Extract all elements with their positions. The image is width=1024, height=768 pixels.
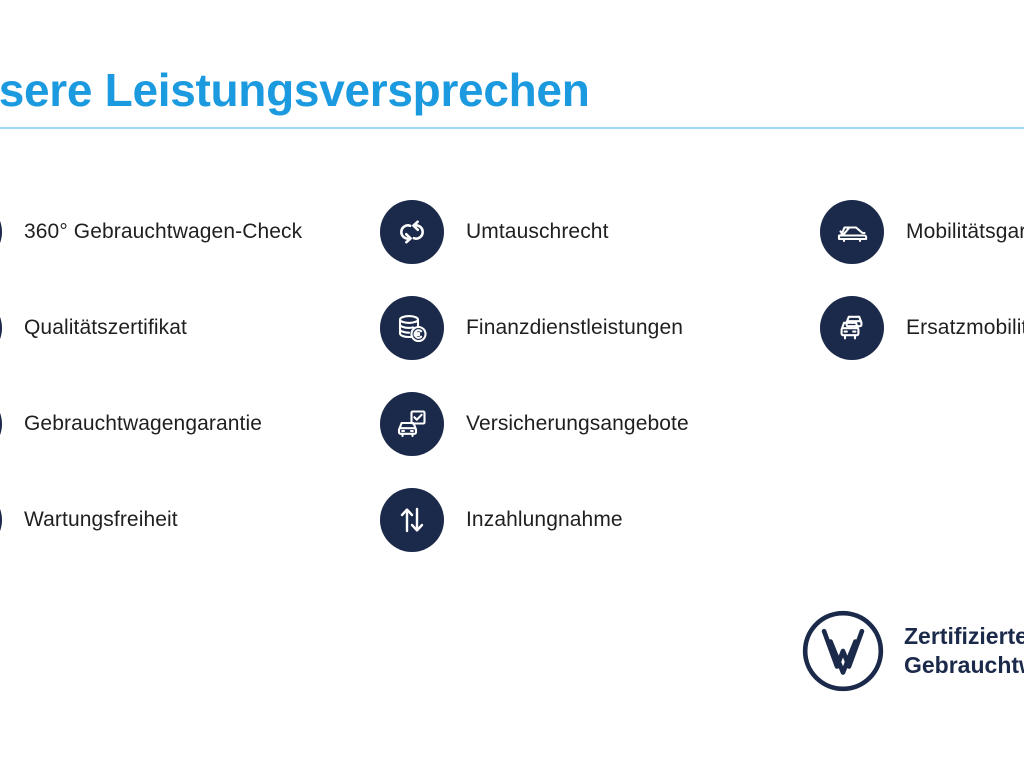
promise-label: Wartungsfreiheit — [24, 507, 178, 533]
promise-item[interactable]: Wartungsfreiheit — [0, 488, 380, 552]
promise-label: Versicherungsangebote — [466, 411, 689, 437]
slide-viewport: Unsere Leistungsversprechen 360° Gebrauc… — [0, 0, 1024, 768]
magnifier-car-check-icon — [0, 200, 2, 264]
promise-label: Qualitätszertifikat — [24, 315, 187, 341]
promise-label: Gebrauchtwagengarantie — [24, 411, 262, 437]
headline-block: Unsere Leistungsversprechen — [0, 62, 1024, 118]
up-down-arrows-icon — [380, 488, 444, 552]
promise-item[interactable]: Versicherungsangebote — [380, 392, 820, 456]
promise-label: Umtauschrecht — [466, 219, 609, 245]
promise-item[interactable]: Inzahlungnahme — [380, 488, 820, 552]
vw-certified-text: Zertifizierte Gebrauchtwagen — [904, 622, 1024, 680]
promise-item[interactable]: Gebrauchtwagengarantie — [0, 392, 380, 456]
slide-canvas: Unsere Leistungsversprechen 360° Gebrauc… — [0, 0, 1024, 768]
promises-column-1: 360° Gebrauchtwagen-Check Qualitätszerti… — [0, 200, 380, 552]
car-check-icon — [820, 200, 884, 264]
promise-label: 360° Gebrauchtwagen-Check — [24, 219, 302, 245]
shield-car-icon — [0, 392, 2, 456]
promise-item[interactable]: Qualitätszertifikat — [0, 296, 380, 360]
exchange-arrows-icon — [380, 200, 444, 264]
certificate-seal-icon — [0, 296, 2, 360]
promises-column-3: Mobilitätsgarantie — [820, 200, 1024, 552]
promise-item[interactable]: Mobilitätsgarantie — [820, 200, 1024, 264]
promise-item[interactable]: 360° Gebrauchtwagen-Check — [0, 200, 380, 264]
volkswagen-logo — [800, 608, 886, 694]
promise-item[interactable]: Ersatzmobilität — [820, 296, 1024, 360]
headline-divider — [0, 127, 1024, 129]
car-document-check-icon — [380, 392, 444, 456]
promises-column-2: Umtauschrecht — [380, 200, 820, 552]
vw-certified-line2: Gebrauchtwagen — [904, 652, 1024, 678]
promise-label: Inzahlungnahme — [466, 507, 623, 533]
promise-label: Finanzdienstleistungen — [466, 315, 683, 341]
vw-certified-line1: Zertifizierte — [904, 623, 1024, 649]
vw-certified-lockup: Zertifizierte Gebrauchtwagen — [800, 608, 1024, 694]
promises-grid: 360° Gebrauchtwagen-Check Qualitätszerti… — [0, 200, 1024, 552]
promise-label: Ersatzmobilität — [906, 315, 1024, 341]
two-cars-icon — [820, 296, 884, 360]
promise-label: Mobilitätsgarantie — [906, 219, 1024, 245]
page-title: Unsere Leistungsversprechen — [0, 62, 1024, 118]
coins-euro-icon — [380, 296, 444, 360]
promise-item[interactable]: Finanzdienstleistungen — [380, 296, 820, 360]
promise-item[interactable]: Umtauschrecht — [380, 200, 820, 264]
wrench-service-icon — [0, 488, 2, 552]
